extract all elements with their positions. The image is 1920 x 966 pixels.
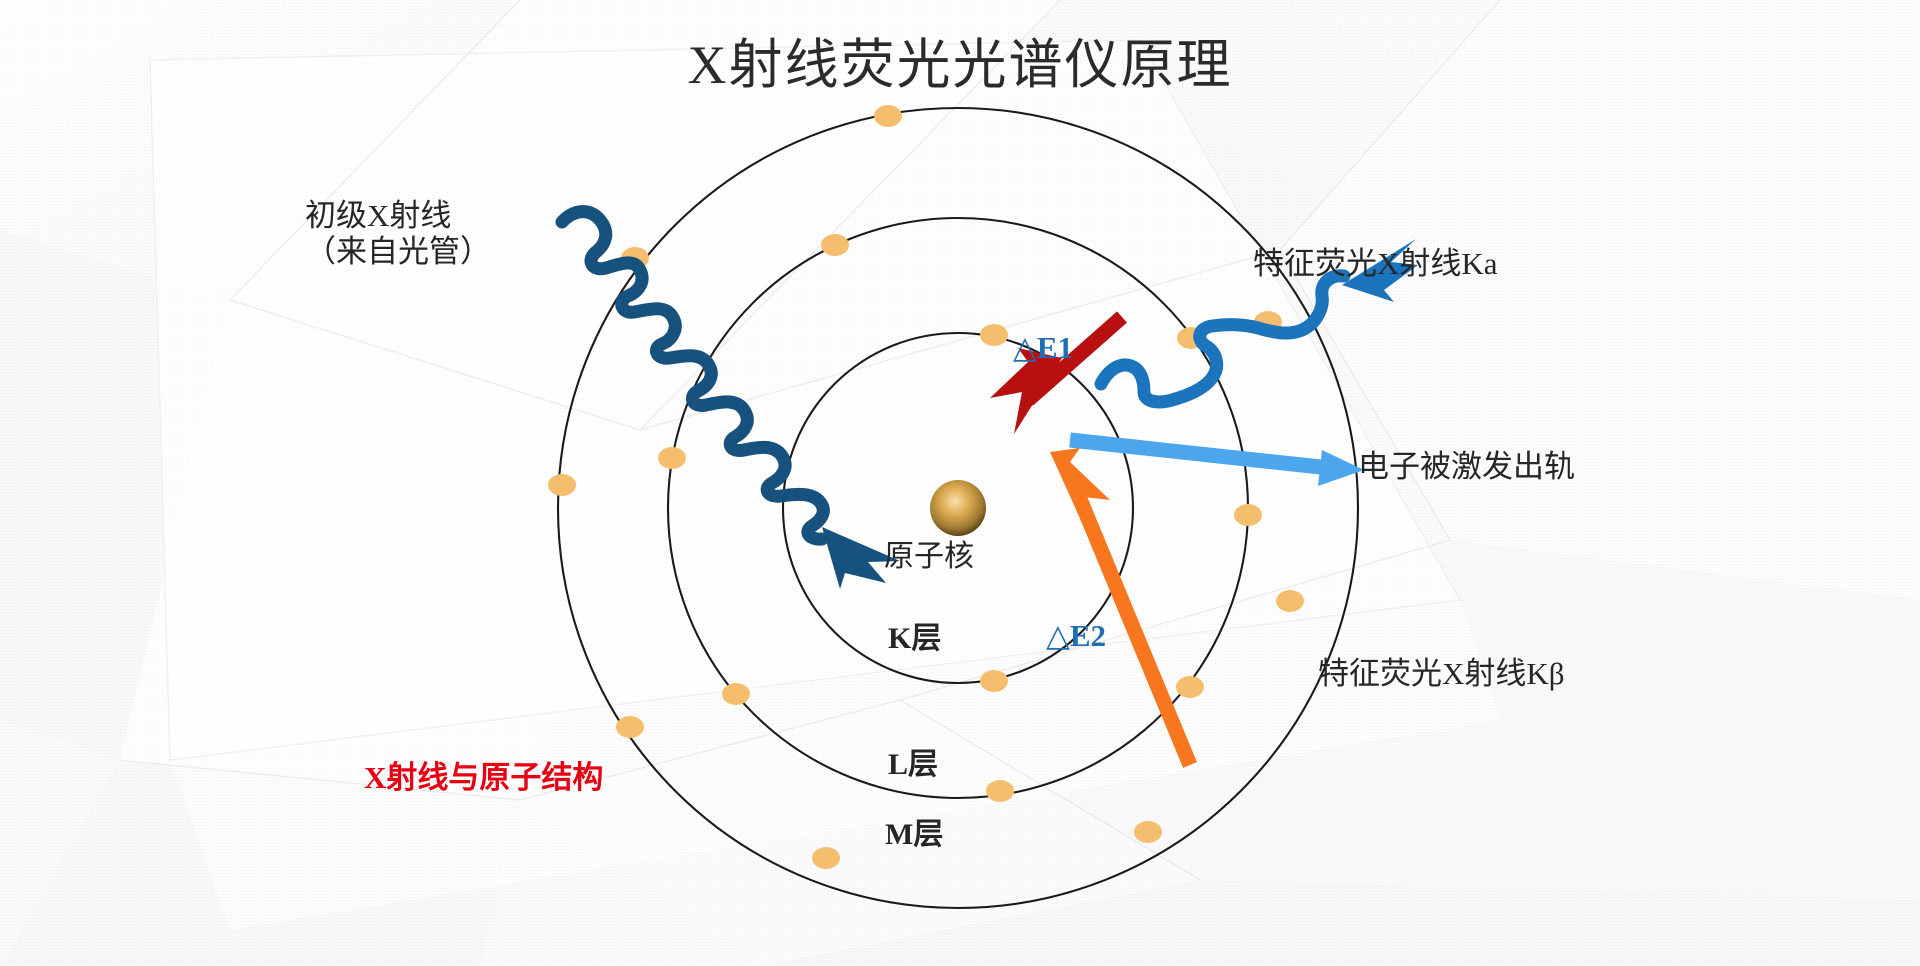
electron-dot <box>548 474 576 496</box>
electron-dot <box>986 780 1014 802</box>
page-title: X射线荧光光谱仪原理 <box>0 34 1920 97</box>
electron-dot <box>1234 504 1262 526</box>
delta-e2-arrowhead <box>1050 448 1110 536</box>
electron-dot <box>616 716 644 738</box>
electron-dot <box>1276 590 1304 612</box>
nucleus-sphere <box>930 480 986 536</box>
electron-dot <box>980 670 1008 692</box>
electron-dot <box>821 234 849 256</box>
label-nucleus: 原子核 <box>884 540 974 575</box>
diagram-canvas: X射线荧光光谱仪原理 初级X射线 （来自光管） 特征荧光X射线Ka 特征荧光X射… <box>0 0 1920 966</box>
primary-xray-wave <box>562 212 900 589</box>
electron-dot <box>812 847 840 869</box>
label-shell-k: K层 <box>888 622 941 657</box>
electron-dot <box>658 447 686 469</box>
label-delta-e2: △E2 <box>1046 618 1106 654</box>
label-primary-xray-line1: 初级X射线 <box>305 198 451 233</box>
label-primary-xray: 初级X射线 （来自光管） <box>305 198 491 270</box>
electron-dot <box>1134 821 1162 843</box>
label-fluorescence-ka: 特征荧光X射线Ka <box>1253 246 1498 282</box>
label-delta-e1: △E1 <box>1013 330 1073 366</box>
electron-dot <box>874 105 902 127</box>
label-shell-l: L层 <box>888 748 938 783</box>
label-primary-xray-line2: （来自光管） <box>305 234 491 270</box>
electron-dot <box>980 324 1008 346</box>
atom-illustration <box>0 0 1920 966</box>
caption-xray-atomic-structure: X射线与原子结构 <box>364 760 603 796</box>
delta-e2-arrow <box>1050 448 1190 765</box>
label-shell-m: M层 <box>885 818 943 853</box>
label-electron-ejected: 电子被激发出轨 <box>1358 449 1575 485</box>
electron-dot <box>1176 676 1204 698</box>
label-fluorescence-kb: 特征荧光X射线Kβ <box>1318 656 1565 692</box>
electron-dot <box>722 683 750 705</box>
ejected-electron-arrow <box>1070 440 1364 486</box>
